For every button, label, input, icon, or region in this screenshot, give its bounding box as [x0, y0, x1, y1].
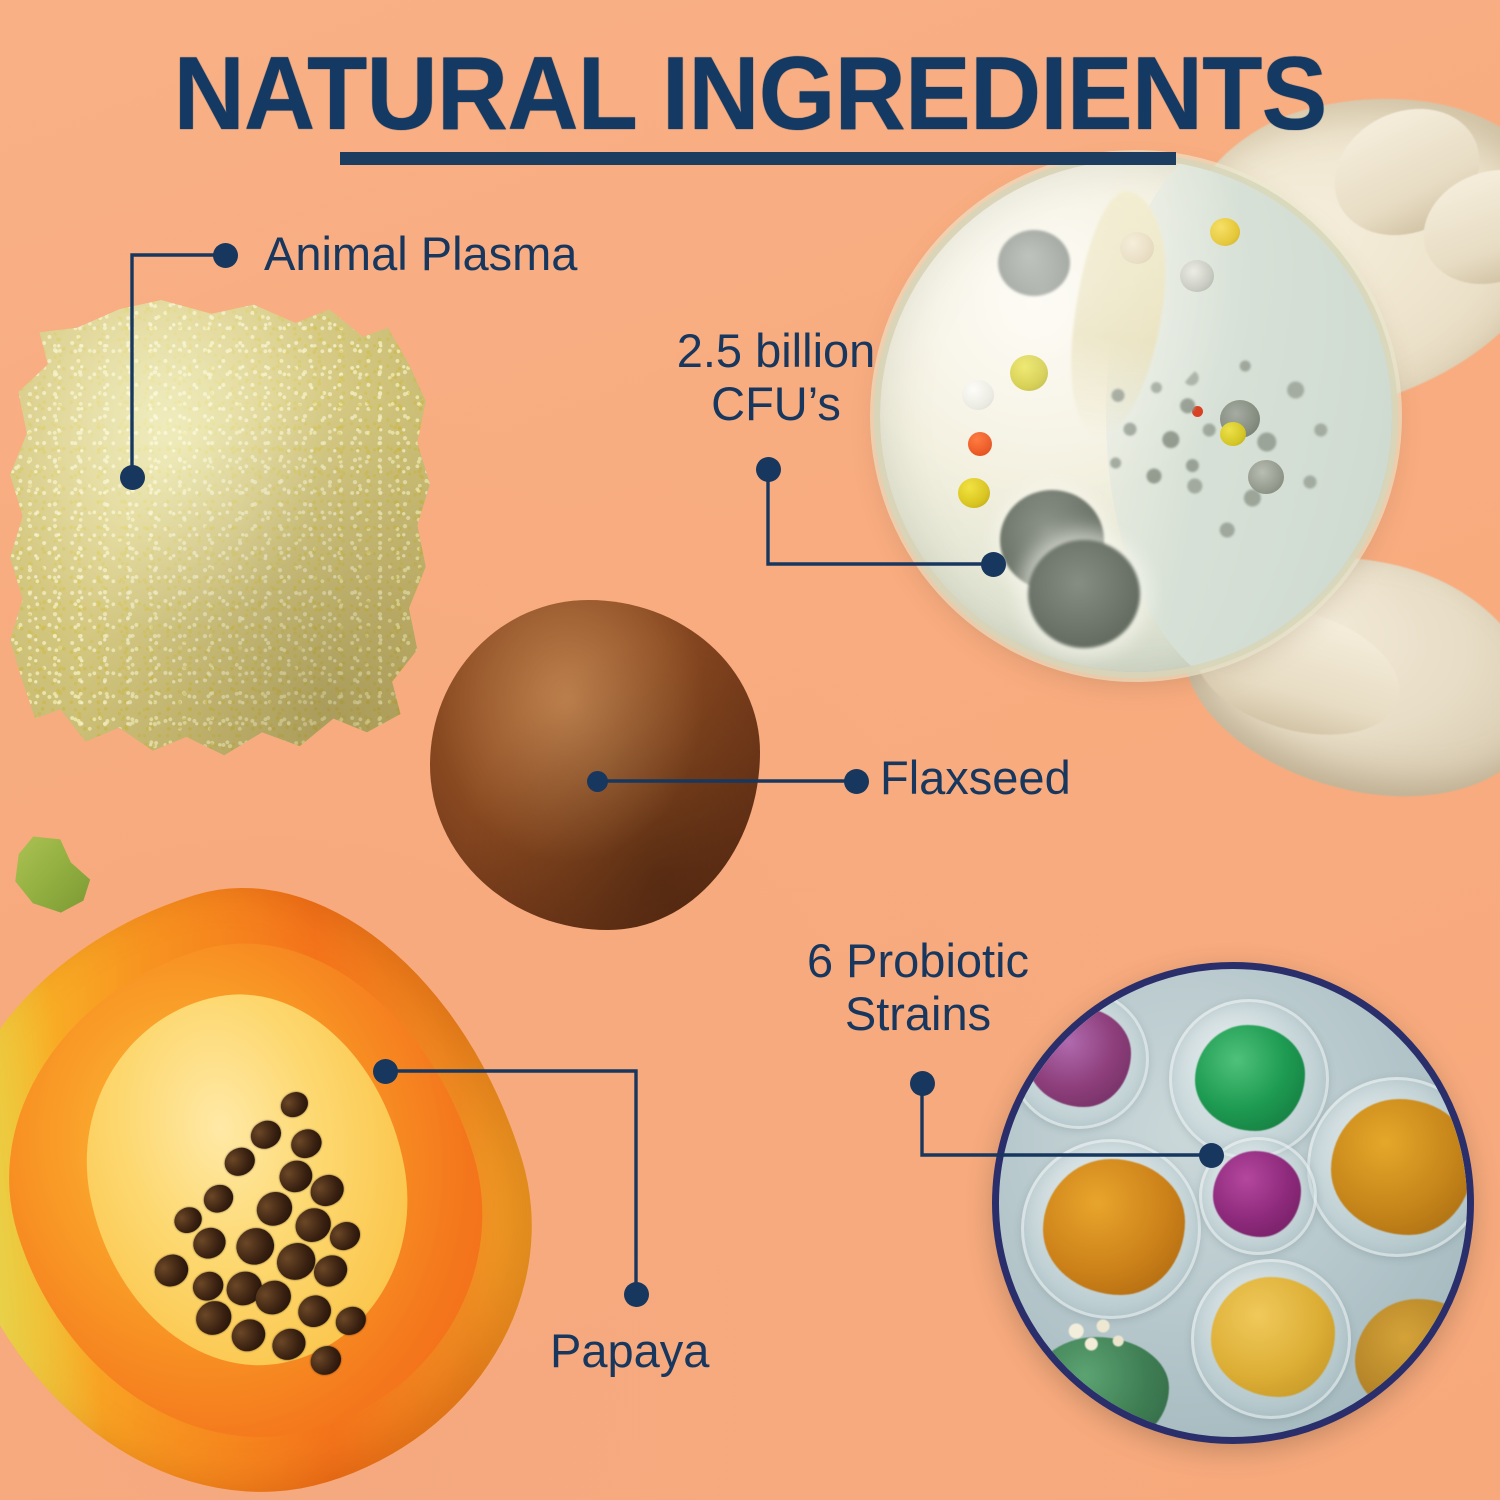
leader-dot-cfu-target	[981, 552, 1006, 577]
label-flaxseed: Flaxseed	[880, 752, 1071, 805]
label-probiotic-strains: 6 Probiotic Strains	[782, 935, 1054, 1040]
leader-dot-papaya-text	[624, 1282, 649, 1307]
leader-cfu	[768, 469, 993, 564]
leader-animal-plasma	[132, 255, 225, 477]
leader-probiotic	[922, 1083, 1211, 1155]
leader-dot-plasma-target	[120, 465, 145, 490]
label-animal-plasma: Animal Plasma	[264, 228, 577, 281]
leader-dot-probiotic-target	[1199, 1143, 1224, 1168]
label-papaya: Papaya	[550, 1325, 709, 1378]
leader-dot-flax-target	[587, 771, 608, 792]
infographic-canvas: NATURAL INGREDIENTS Animal Plasma 2.5 bi…	[0, 0, 1500, 1500]
leader-dot-probiotic-text	[910, 1071, 935, 1096]
leader-dot-flax-text	[844, 769, 869, 794]
leader-lines	[0, 0, 1500, 1500]
leader-dot-plasma-text	[213, 243, 238, 268]
leader-papaya	[385, 1071, 636, 1294]
label-cfu: 2.5 billion CFU’s	[656, 325, 896, 430]
leader-dot-cfu-text	[756, 457, 781, 482]
leader-dot-papaya-target	[373, 1059, 398, 1084]
